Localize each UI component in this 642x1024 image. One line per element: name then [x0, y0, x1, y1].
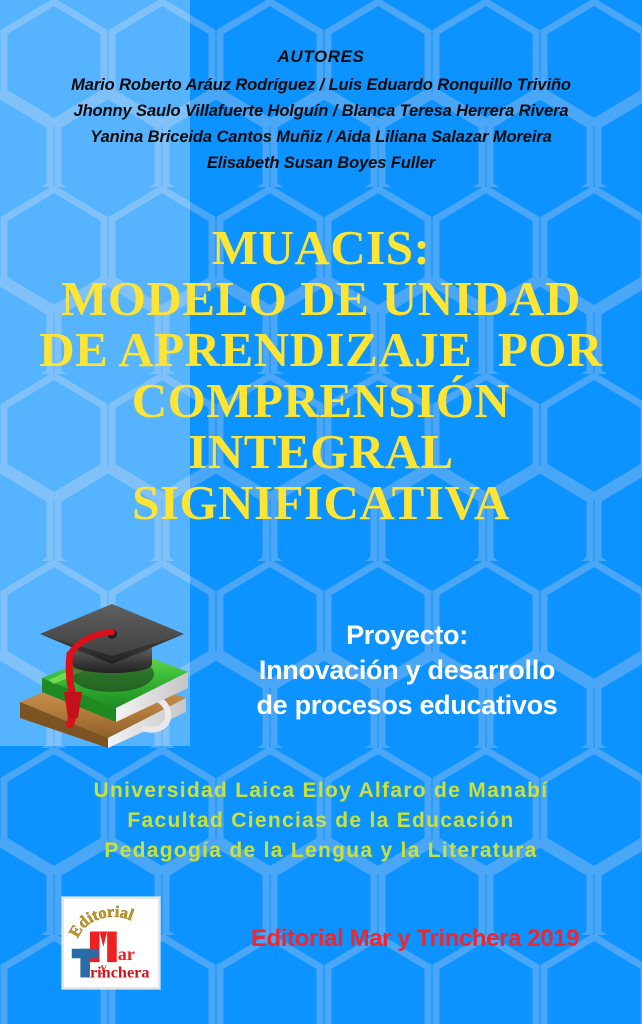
project-line-3: de procesos educativos — [190, 688, 624, 723]
author-line-2: Jhonny Saulo Villafuerte Holguín / Blanc… — [0, 98, 642, 124]
title-line-3: DE APRENDIZAJE POR — [0, 324, 642, 375]
graduation-cap-on-books-icon — [8, 596, 198, 748]
project-subtitle: Proyecto: Innovación y desarrollo de pro… — [190, 618, 624, 723]
title-line-5: INTEGRAL — [0, 426, 642, 477]
publisher-imprint-line: Editorial Mar y Trinchera 2019 — [215, 925, 615, 953]
project-line-2: Innovación y desarrollo — [190, 653, 624, 688]
title-line-1: MUACIS: — [0, 222, 642, 273]
title-line-2: MODELO DE UNIDAD — [0, 273, 642, 324]
title-line-6: SIGNIFICATIVA — [0, 477, 642, 528]
university-line-1: Universidad Laica Eloy Alfaro de Manabí — [0, 776, 642, 806]
logo-ar-text: ar — [118, 944, 135, 964]
authors-block: AUTORES Mario Roberto Aráuz Rodríguez / … — [0, 44, 642, 176]
page-title: MUACIS: MODELO DE UNIDAD DE APRENDIZAJE … — [0, 222, 642, 528]
logo-rinchera-text: rinchera — [90, 963, 150, 981]
author-line-4: Elisabeth Susan Boyes Fuller — [0, 150, 642, 176]
university-line-2: Facultad Ciencias de la Educación — [0, 806, 642, 836]
author-line-1: Mario Roberto Aráuz Rodríguez / Luis Edu… — [0, 72, 642, 98]
university-line-3: Pedagogía de la Lengua y la Literatura — [0, 836, 642, 866]
book-cover: AUTORES Mario Roberto Aráuz Rodríguez / … — [0, 0, 642, 1024]
project-line-1: Proyecto: — [190, 618, 624, 653]
title-line-4: COMPRENSIÓN — [0, 375, 642, 426]
author-line-3: Yanina Briceida Cantos Muñiz / Aida Lili… — [0, 124, 642, 150]
authors-heading: AUTORES — [0, 44, 642, 70]
publisher-logo: Editorial ar y rinchera — [62, 897, 160, 989]
university-block: Universidad Laica Eloy Alfaro de Manabí … — [0, 776, 642, 866]
